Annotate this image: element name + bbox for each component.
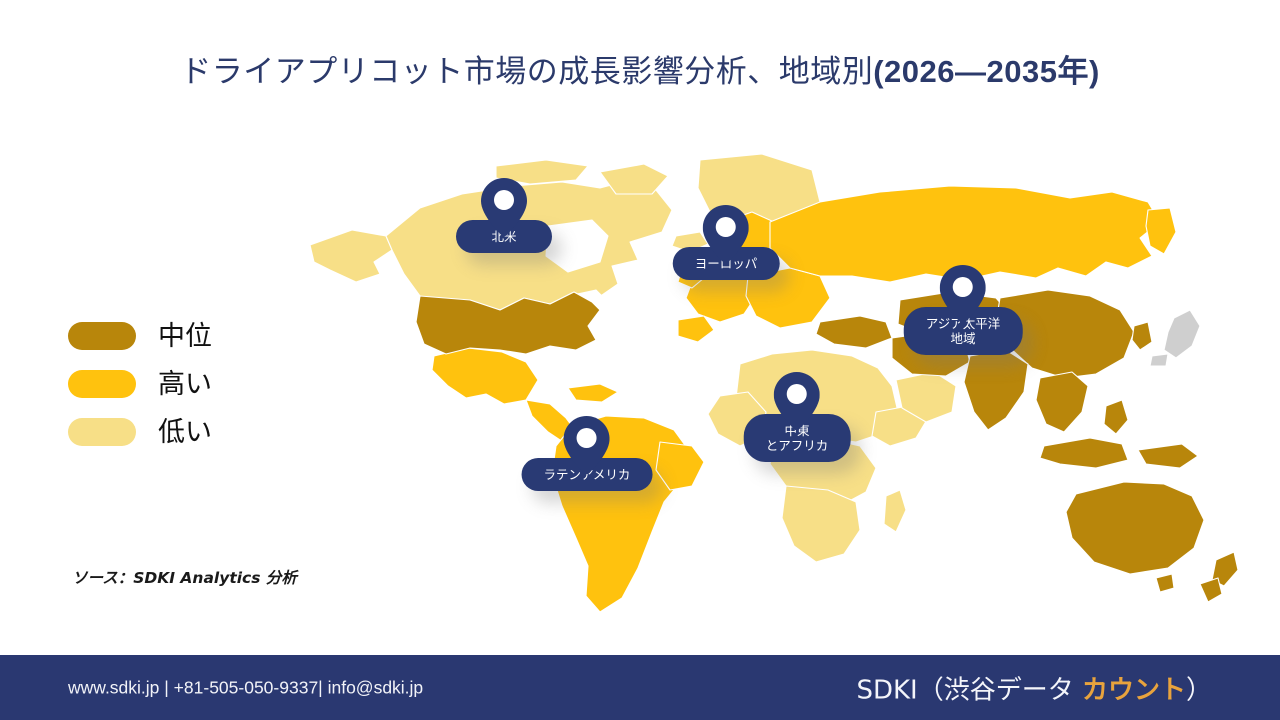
page-title-main: ドライアプリコット市場の成長影響分析、地域別 <box>180 54 873 89</box>
marker-asia-pacific[interactable]: アジア太平洋 地域 <box>904 265 1023 355</box>
map-pin-icon <box>481 178 527 236</box>
marker-north-america[interactable]: 北米 <box>456 178 552 253</box>
footer-logo-prefix: SDKI（渋谷データ <box>856 675 1082 705</box>
region-india <box>964 350 1028 430</box>
legend-label-high: 高い <box>158 371 212 398</box>
region-madagascar <box>884 490 906 532</box>
marker-europe[interactable]: ヨーロッパ <box>673 205 780 280</box>
marker-latin-america[interactable]: ラテンアメリカ <box>522 416 653 491</box>
region-philippines <box>1104 400 1128 434</box>
region-indonesia <box>1040 438 1128 468</box>
region-japan <box>1164 310 1200 358</box>
footer-contact-info[interactable]: www.sdki.jp | +81-505-050-9337| info@sdk… <box>68 677 423 698</box>
region-sea-mainland <box>1036 372 1088 432</box>
region-australia <box>1066 482 1204 574</box>
legend-label-low: 低い <box>158 419 212 446</box>
region-korea <box>1132 322 1152 350</box>
region-kamchatka <box>1146 208 1176 254</box>
region-japan-south <box>1150 354 1168 366</box>
region-turkey <box>816 316 892 348</box>
map-pin-icon <box>940 265 986 323</box>
region-new-zealand-south <box>1200 578 1222 602</box>
region-tasmania <box>1156 574 1174 592</box>
map-pin-icon <box>564 416 610 474</box>
footer-logo-suffix: ） <box>1186 675 1212 705</box>
slide-canvas: ドライアプリコット市場の成長影響分析、地域別(2026—2035年) <box>0 0 1280 720</box>
marker-middle-east-africa[interactable]: 中東 とアフリカ <box>744 372 851 462</box>
world-map: 北米 ヨーロッパ アジア太平洋 地域 <box>300 150 1240 620</box>
map-pin-icon <box>703 205 749 263</box>
legend-item-low: 低い <box>68 408 298 456</box>
region-iberia <box>678 316 714 342</box>
source-note: ソース：SDKI Analytics 分析 <box>72 566 297 588</box>
region-mexico <box>432 348 538 404</box>
legend-label-medium: 中位 <box>158 323 212 350</box>
legend-item-high: 高い <box>68 360 298 408</box>
region-new-guinea <box>1138 444 1198 468</box>
legend-item-medium: 中位 <box>68 312 298 360</box>
legend-swatch-medium <box>68 322 136 350</box>
region-alaska <box>310 230 392 282</box>
region-caribbean <box>568 384 618 402</box>
legend-swatch-high <box>68 370 136 398</box>
page-title: ドライアプリコット市場の成長影響分析、地域別(2026—2035年) <box>0 52 1280 92</box>
legend: 中位 高い 低い <box>68 312 298 456</box>
footer-logo-highlight: カウント <box>1082 675 1186 705</box>
footer-bar: www.sdki.jp | +81-505-050-9337| info@sdk… <box>0 655 1280 720</box>
legend-swatch-low <box>68 418 136 446</box>
page-title-period: (2026—2035年) <box>873 54 1100 89</box>
footer-logo: SDKI（渋谷データ カウント） <box>856 669 1212 706</box>
map-pin-icon <box>774 372 820 430</box>
